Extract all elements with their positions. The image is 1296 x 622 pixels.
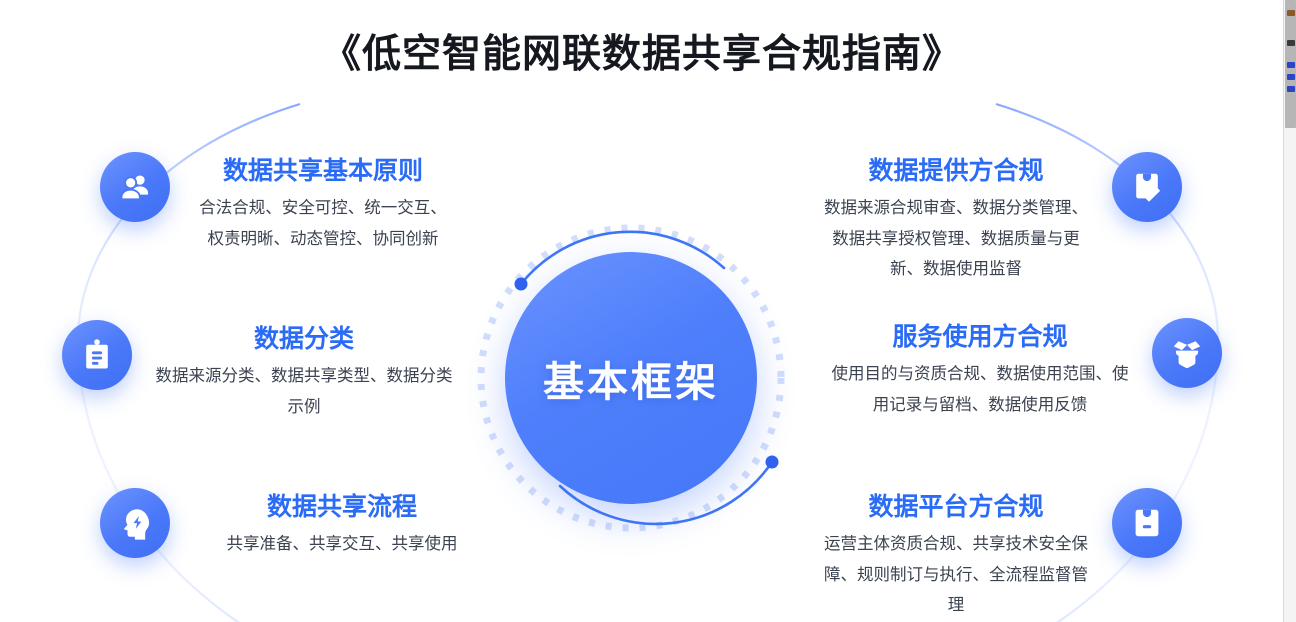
branch-text-block: 数据平台方合规 运营主体资质合规、共享技术安全保障、规则制订与执行、全流程监督管…	[822, 488, 1090, 621]
branch-data-sharing-principles[interactable]: 数据共享基本原则 合法合规、安全可控、统一交互、权责明晰、动态管控、协同创新	[100, 152, 455, 254]
document-check-icon	[1112, 152, 1182, 222]
branch-title: 数据平台方合规	[822, 492, 1090, 523]
branch-text-block: 数据分类 数据来源分类、数据共享类型、数据分类示例	[154, 320, 454, 422]
branch-title: 数据分类	[154, 324, 454, 355]
branch-title: 数据共享基本原则	[192, 156, 454, 187]
hub-arc-dot-bottom	[766, 456, 779, 469]
scrollbar-marker	[1287, 62, 1295, 68]
branch-data-classification[interactable]: 数据分类 数据来源分类、数据共享类型、数据分类示例	[62, 320, 462, 422]
infographic-canvas: 《低空智能网联数据共享合规指南》 基本框架 数据共享基本原则 合法合规、安全可控…	[0, 0, 1296, 622]
clipboard-card-icon	[1112, 488, 1182, 558]
branch-text-block: 数据提供方合规 数据来源合规审查、数据分类管理、数据共享授权管理、数据质量与更新…	[822, 152, 1090, 285]
branch-text-block: 数据共享流程 共享准备、共享交互、共享使用	[192, 488, 492, 560]
branch-title: 数据共享流程	[192, 492, 492, 523]
branch-text-block: 数据共享基本原则 合法合规、安全可控、统一交互、权责明晰、动态管控、协同创新	[192, 152, 454, 254]
open-box-icon	[1152, 318, 1222, 388]
scrollbar-marker	[1287, 74, 1295, 80]
branch-description: 共享准备、共享交互、共享使用	[192, 529, 492, 560]
branch-description: 合法合规、安全可控、统一交互、权责明晰、动态管控、协同创新	[192, 193, 454, 254]
scrollbar-marker	[1287, 40, 1295, 46]
branch-description: 使用目的与资质合规、数据使用范围、使用记录与留档、数据使用反馈	[830, 359, 1130, 420]
scrollbar-marker	[1287, 86, 1295, 92]
hub-arc-dot-top	[515, 278, 528, 291]
branch-data-platform-compliance[interactable]: 数据平台方合规 运营主体资质合规、共享技术安全保障、规则制订与执行、全流程监督管…	[822, 488, 1182, 621]
branch-data-provider-compliance[interactable]: 数据提供方合规 数据来源合规审查、数据分类管理、数据共享授权管理、数据质量与更新…	[822, 152, 1182, 285]
center-hub-label: 基本框架	[543, 348, 719, 408]
page-title: 《低空智能网联数据共享合规指南》	[0, 32, 1284, 79]
vertical-scrollbar[interactable]	[1283, 0, 1296, 622]
branch-data-sharing-process[interactable]: 数据共享流程 共享准备、共享交互、共享使用	[100, 488, 495, 560]
users-icon	[100, 152, 170, 222]
branch-title: 服务使用方合规	[830, 322, 1130, 353]
center-hub: 基本框架	[505, 252, 757, 504]
head-lightning-icon	[100, 488, 170, 558]
scrollbar-thumb[interactable]	[1285, 0, 1296, 128]
branch-title: 数据提供方合规	[822, 156, 1090, 187]
branch-description: 运营主体资质合规、共享技术安全保障、规则制订与执行、全流程监督管理	[822, 529, 1090, 621]
branch-service-consumer-compliance[interactable]: 服务使用方合规 使用目的与资质合规、数据使用范围、使用记录与留档、数据使用反馈	[822, 318, 1222, 420]
branch-description: 数据来源合规审查、数据分类管理、数据共享授权管理、数据质量与更新、数据使用监督	[822, 193, 1090, 285]
scrollbar-marker	[1287, 10, 1295, 16]
clipboard-lines-icon	[62, 320, 132, 390]
branch-description: 数据来源分类、数据共享类型、数据分类示例	[154, 361, 454, 422]
branch-text-block: 服务使用方合规 使用目的与资质合规、数据使用范围、使用记录与留档、数据使用反馈	[830, 318, 1130, 420]
